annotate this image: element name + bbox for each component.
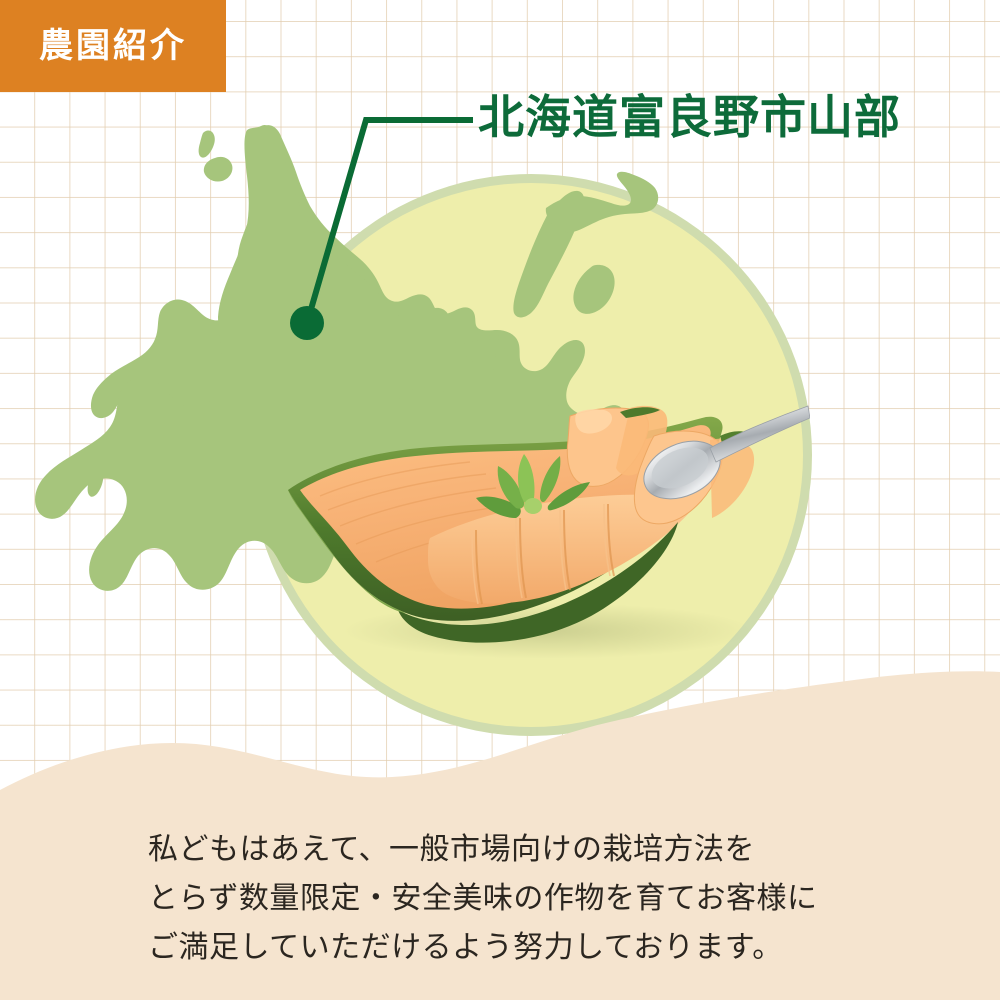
place-title: 北海道富良野市山部 [478, 94, 901, 140]
body-line-1: 私どもはあえて、一般市場向けの栽培方法を [148, 826, 908, 875]
location-dot-icon [290, 306, 324, 340]
body-copy: 私どもはあえて、一般市場向けの栽培方法を とらず数量限定・安全美味の作物を育てお… [148, 826, 908, 973]
section-badge-label: 農園紹介 [39, 29, 187, 63]
body-line-3: ご満足していただけるよう努力しております。 [148, 924, 908, 973]
body-line-2: とらず数量限定・安全美味の作物を育てお客様に [148, 875, 908, 924]
section-badge: 農園紹介 [0, 0, 226, 92]
page-canvas: 北海道富良野市山部 私どもはあえて、一般市場向けの栽培方法を とらず数量限定・安… [0, 0, 1000, 1000]
leader-line [307, 120, 470, 323]
